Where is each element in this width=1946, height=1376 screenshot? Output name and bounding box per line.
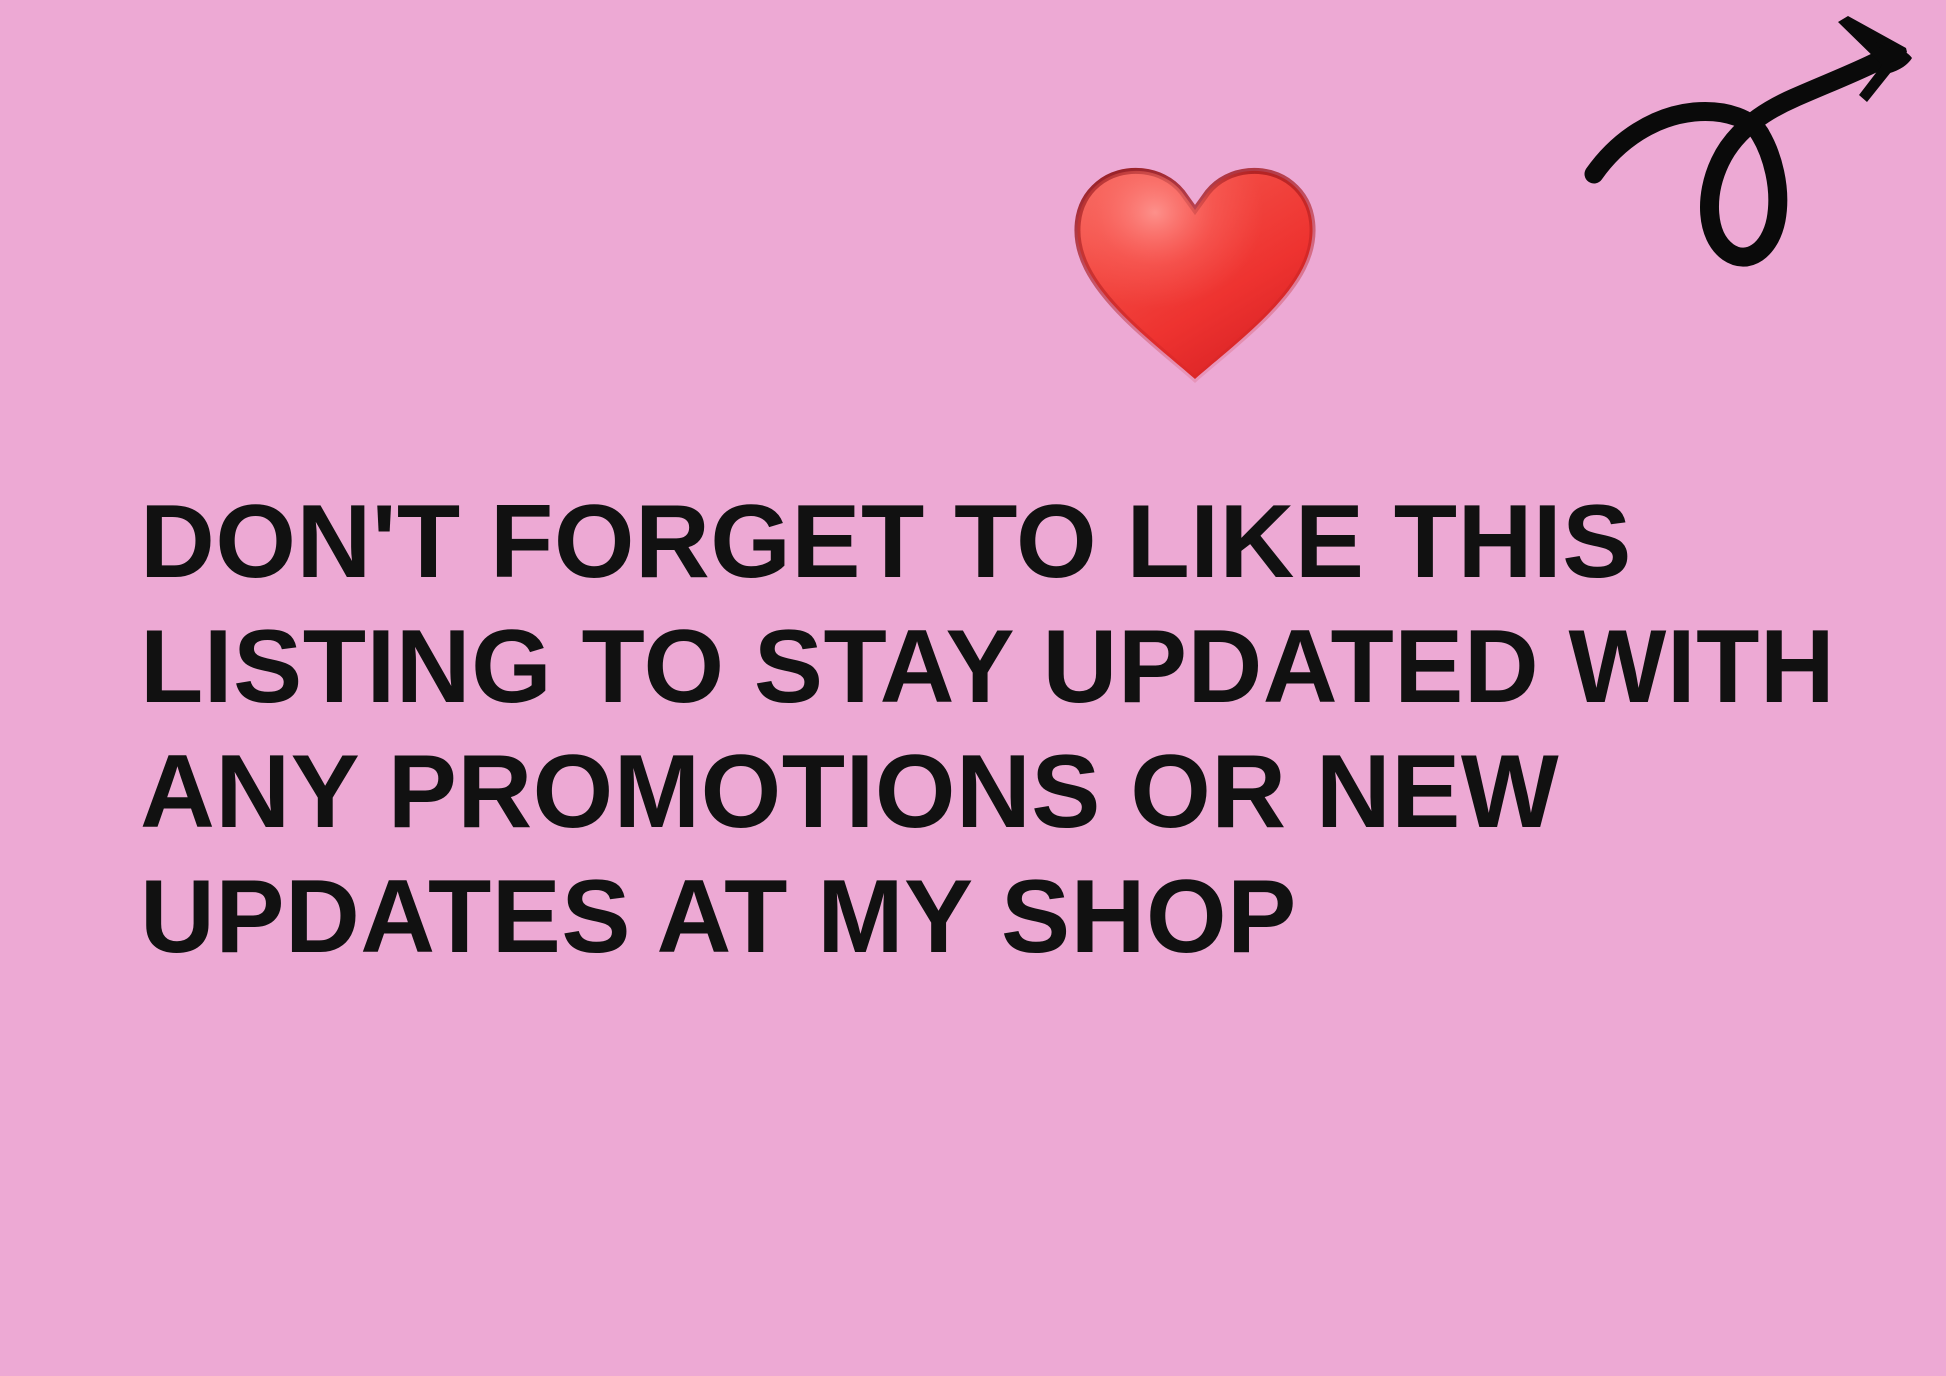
headline-block: DON'T FORGET TO LIKE THIS LISTING TO STA…: [140, 480, 1560, 980]
headline-line-1: DON'T FORGET TO LIKE THIS: [140, 480, 1555, 605]
promo-graphic-canvas: DON'T FORGET TO LIKE THIS LISTING TO STA…: [0, 0, 1946, 1376]
headline-line-2: LISTING TO STAY UPDATED WITH: [140, 605, 1555, 730]
headline-line-3: ANY PROMOTIONS OR NEW: [140, 730, 1555, 855]
headline-line-4: UPDATES AT MY SHOP: [140, 855, 1555, 980]
curly-arrow-icon: [1576, 2, 1946, 282]
red-heart-icon: [1070, 160, 1320, 385]
